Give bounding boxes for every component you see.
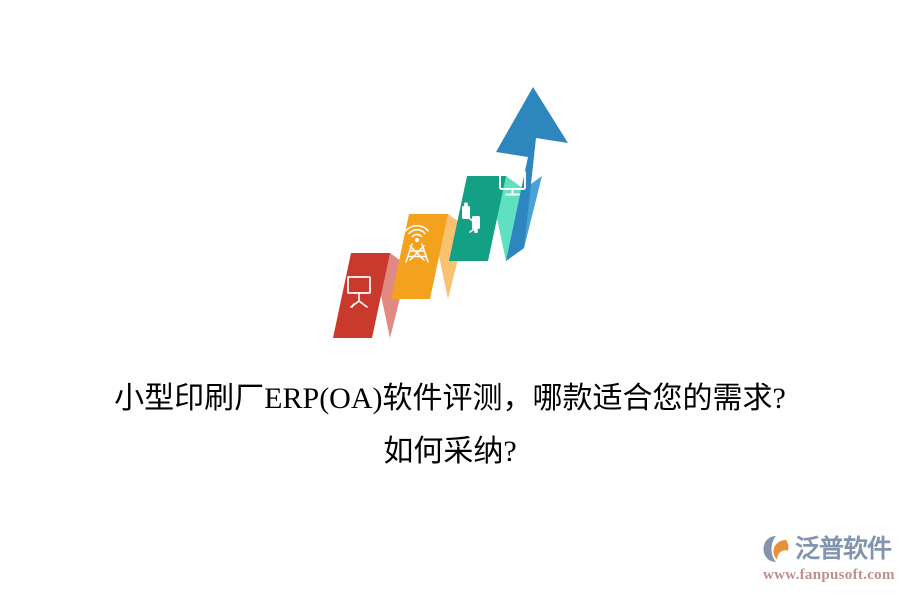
watermark-url-text: www.fanpusoft.com <box>763 567 895 584</box>
fanpu-leaf-logo-icon <box>762 534 792 564</box>
page-title: 小型印刷厂ERP(OA)软件评测，哪款适合您的需求? 如何采纳? <box>0 372 900 478</box>
watermark: 泛普软件 www.fanpusoft.com <box>762 532 894 584</box>
poster-canvas: 小型印刷厂ERP(OA)软件评测，哪款适合您的需求? 如何采纳? 泛普软件 ww… <box>0 0 900 600</box>
watermark-brand-row: 泛普软件 <box>762 532 891 566</box>
watermark-brand-text: 泛普软件 <box>795 534 891 564</box>
page-title-line-2: 如何采纳? <box>0 425 900 478</box>
page-title-line-1: 小型印刷厂ERP(OA)软件评测，哪款适合您的需求? <box>0 372 900 425</box>
hero-growth-arrow-graphic <box>320 70 600 355</box>
